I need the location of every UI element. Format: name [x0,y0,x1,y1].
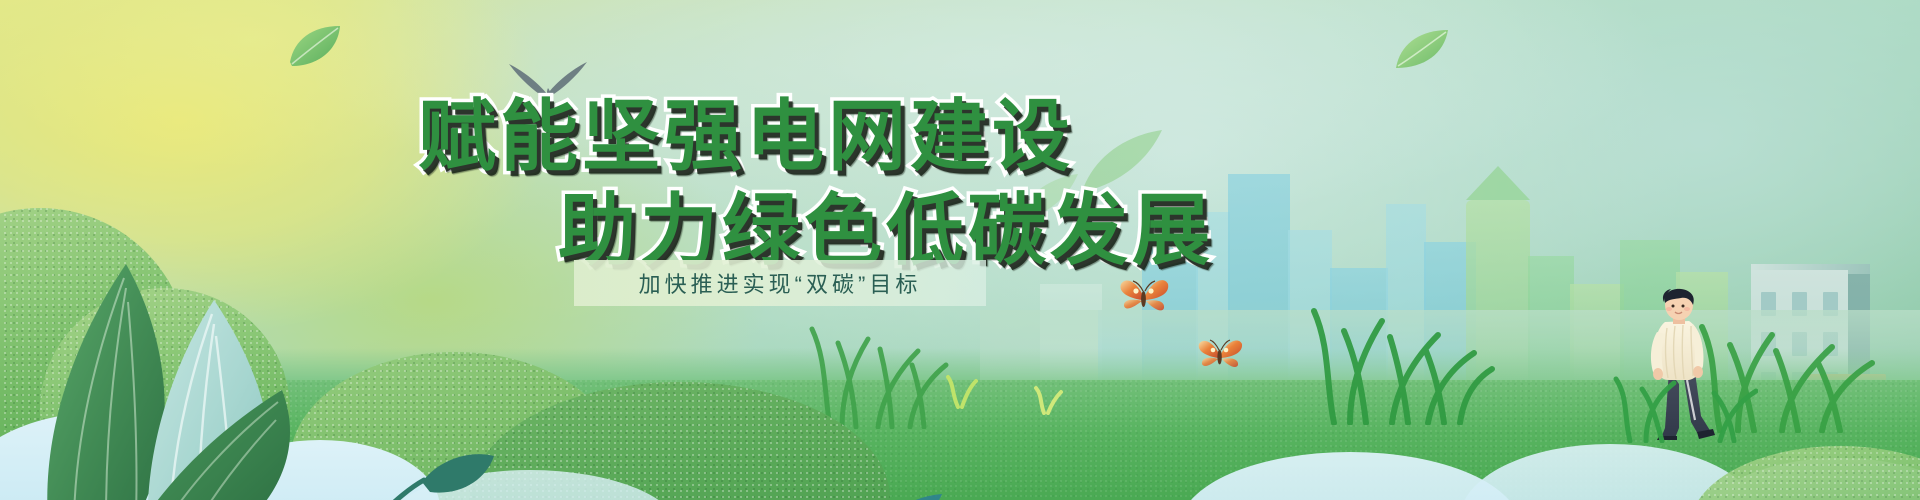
sprout-small-2 [1030,385,1064,420]
small-leaf-on-stem [368,436,498,500]
grass-foreground-person [1608,363,1758,448]
floating-leaf-1 [286,22,346,75]
grass-cluster-right [1300,285,1500,430]
large-leaf-dark-green-2 [126,386,316,500]
banner: 赋能坚强电网建设 助力绿色低碳发展 加快推进实现“双碳”目标 [0,0,1920,500]
butterfly-orange-upper [1118,276,1170,325]
sprout-small-1 [940,373,980,414]
subtitle-text: 加快推进实现“双碳”目标 [574,260,986,306]
floating-leaf-4 [1012,170,1082,231]
butterfly-orange-lower [1196,336,1244,381]
floating-leaf-3 [1076,126,1166,201]
building-roof-peak [1466,166,1530,200]
floating-leaf-2 [1390,24,1452,77]
swallow-bird-icon [505,58,591,123]
small-leaf-teal-bottom [868,470,948,500]
